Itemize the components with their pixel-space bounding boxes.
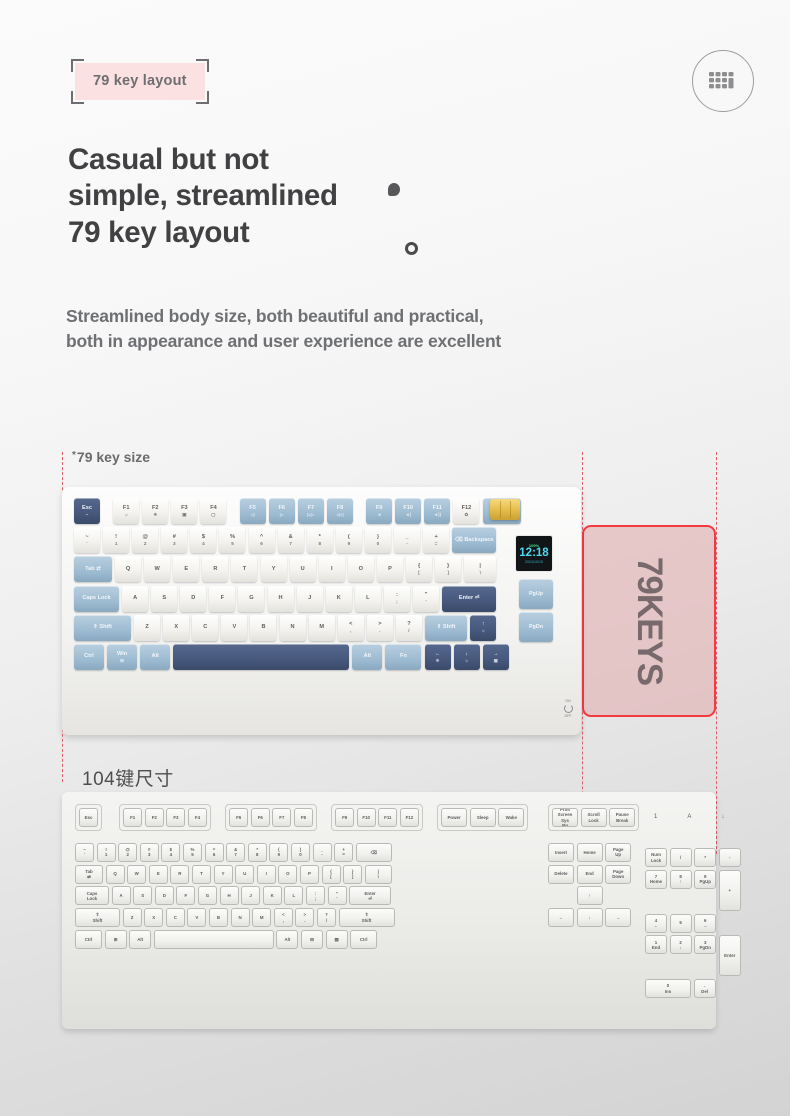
key-y[interactable]: Y [214, 865, 233, 884]
guide-line-right [716, 452, 717, 854]
key-3-pgdn[interactable]: 3PgDn [694, 935, 716, 954]
key-1-end[interactable]: 1End [645, 935, 667, 954]
key-shift[interactable]: ⇧Shift [75, 908, 120, 927]
key-j[interactable]: J [297, 586, 323, 612]
key-1[interactable]: !1 [97, 843, 116, 862]
key-delete[interactable]: Delete [548, 865, 574, 884]
key-f7[interactable]: F7▷▷ [298, 498, 324, 524]
key-legend: ↑ [679, 879, 681, 884]
key-n[interactable]: N [231, 908, 250, 927]
key-legend-bottom: ] [447, 570, 449, 576]
key-legend-bottom: . [379, 628, 380, 634]
key-legend-bottom: 6 [260, 541, 263, 547]
key-e[interactable]: E [173, 556, 199, 582]
key-u[interactable]: U [235, 865, 254, 884]
keyboard-row: Ctrl⊞AltAlt⊞▤Ctrl [75, 930, 528, 949]
key-legend-bottom: 3 [173, 541, 176, 547]
key-legend-top: Caps Lock [82, 595, 110, 602]
key-[interactable]: →▣ [483, 644, 509, 670]
key-f12[interactable]: F12✿ [453, 498, 479, 524]
key-f2[interactable]: F2 [145, 808, 164, 827]
badge-label: 79 key layout [93, 73, 187, 89]
key-a[interactable]: A [112, 886, 131, 905]
key-legend: F4 [195, 815, 200, 820]
key-legend: Delete [554, 871, 567, 876]
key-blank[interactable]: >. [295, 908, 314, 927]
key-f3[interactable]: F3▣ [171, 498, 197, 524]
key-legend: P [308, 871, 311, 876]
key-legend: Q [113, 871, 116, 876]
key-legend: F9 [342, 815, 347, 820]
key-pause-break[interactable]: PauseBreak [609, 808, 635, 827]
keyboard-icon [692, 50, 754, 112]
key-legend-bottom: ~ [86, 512, 89, 518]
key-w[interactable]: W [144, 556, 170, 582]
key-[interactable]: !1 [103, 527, 129, 553]
key-cluster: F1F2F3F4 [119, 804, 211, 831]
keyboard-104-function-row: EscF1F2F3F4F5F6F7F8F9F10F11F12PowerSleep… [75, 804, 528, 834]
key-f6[interactable]: F6▷ [269, 498, 295, 524]
key-legend-bottom: 7 [289, 541, 292, 547]
key-legend-top: F5 [249, 505, 256, 512]
key-page-up[interactable]: PageUp [605, 843, 631, 862]
key-blank[interactable]: + [719, 870, 741, 911]
key-f1[interactable]: F1 [123, 808, 142, 827]
key-[interactable]: _- [394, 527, 420, 553]
key-legend: → [703, 923, 707, 928]
power-switch[interactable]: ON OFF [561, 699, 575, 721]
key-legend: M [260, 915, 264, 920]
key-print-screen-sys-rq[interactable]: PrintScreenSysRq [552, 808, 578, 827]
key-[interactable]: )0 [365, 527, 391, 553]
key-4[interactable]: 4← [645, 914, 667, 933]
badge-79-key-layout: 79 key layout [75, 63, 205, 100]
key-blank[interactable]: → [605, 908, 631, 927]
key-7[interactable]: &7 [226, 843, 245, 862]
key-sleep[interactable]: Sleep [470, 808, 496, 827]
key-c[interactable]: C [166, 908, 185, 927]
key-[interactable]: *8 [307, 527, 333, 553]
key-legend-top: F1 [123, 505, 130, 512]
key-esc[interactable]: Esc~ [74, 498, 100, 524]
key-legend: Y [222, 871, 225, 876]
key-blank[interactable]: ↑ [577, 886, 603, 905]
key-2[interactable]: 2↓ [670, 935, 692, 954]
key-home[interactable]: Home [577, 843, 603, 862]
key-[interactable]: $4 [190, 527, 216, 553]
key-blank[interactable]: ?/ [317, 908, 336, 927]
key-shift[interactable]: ⇧ Shift [425, 615, 467, 641]
key-[interactable]: &7 [278, 527, 304, 553]
key-f3[interactable]: F3 [166, 808, 185, 827]
key-[interactable]: >. [367, 615, 393, 641]
key-legend: F6 [258, 815, 263, 820]
key-blank[interactable]: * [694, 848, 716, 867]
key-g[interactable]: G [198, 886, 217, 905]
key-gap [230, 498, 237, 524]
key-[interactable]: }] [435, 556, 461, 582]
key-enter[interactable]: Enter [719, 935, 741, 976]
key-legend-top: ^ [260, 534, 263, 541]
key-f[interactable]: F [209, 586, 235, 612]
key-legend: ← [654, 923, 658, 928]
key-legend-bottom: ☀ [153, 512, 157, 518]
key-[interactable]: @2 [132, 527, 158, 553]
key-0-ins[interactable]: 0Ins [645, 979, 691, 998]
key-page-down[interactable]: PageDown [605, 865, 631, 884]
key-y[interactable]: Y [261, 556, 287, 582]
key-o[interactable]: O [348, 556, 374, 582]
key-v[interactable]: V [221, 615, 247, 641]
key-legend: A [120, 893, 123, 898]
key-[interactable]: #3 [161, 527, 187, 553]
key-[interactable]: (9 [336, 527, 362, 553]
key-legend-top: C [203, 624, 207, 631]
key-m[interactable]: M [309, 615, 335, 641]
key-f6[interactable]: F6 [251, 808, 270, 827]
power-on-label: ON [561, 699, 575, 703]
key-legend: , [283, 918, 284, 923]
key-legend: Lock [87, 896, 97, 901]
key-legend-top: Y [272, 566, 276, 573]
key-[interactable]: {[ [406, 556, 432, 582]
key-legend-top: W [155, 566, 160, 573]
key-s[interactable]: S [151, 586, 177, 612]
key-blank[interactable]: ↓ [577, 908, 603, 927]
key-f9[interactable]: F9 [335, 808, 354, 827]
key-legend-bottom: 2 [144, 541, 147, 547]
key-b[interactable]: B [209, 908, 228, 927]
key-x[interactable]: X [163, 615, 189, 641]
key-legend-bottom: [ [418, 570, 420, 576]
key-legend: * [704, 855, 706, 860]
key-d[interactable]: D [155, 886, 174, 905]
key-blank[interactable]: <, [274, 908, 293, 927]
key-del[interactable]: .Del [694, 979, 716, 998]
key-legend-top: Esc [82, 505, 92, 512]
key-f11[interactable]: F11◄)) [424, 498, 450, 524]
key-legend: F12 [406, 815, 414, 820]
key-5[interactable]: %5 [183, 843, 202, 862]
key-o[interactable]: O [278, 865, 297, 884]
key-blank[interactable]: ~` [75, 843, 94, 862]
key-legend: End [652, 945, 660, 950]
key-legend: → [616, 915, 620, 920]
key-cluster: PowerSleepWake [437, 804, 528, 831]
key-scroll-lock[interactable]: ScrollLock [581, 808, 607, 827]
key-legend: F8 [301, 815, 306, 820]
key-space[interactable] [173, 644, 349, 670]
key-legend: F5 [236, 815, 241, 820]
key-p[interactable]: P [300, 865, 319, 884]
key-legend: Esc [85, 815, 93, 820]
key-z[interactable]: Z [134, 615, 160, 641]
indicator-led: A [687, 814, 691, 820]
key-legend-top: % [230, 534, 235, 541]
key-f1[interactable]: F1☼ [113, 498, 139, 524]
key-i[interactable]: I [257, 865, 276, 884]
key-f12[interactable]: F12 [400, 808, 419, 827]
key-blank[interactable]: ⊞ [301, 930, 323, 949]
key-ctrl[interactable]: Ctrl [74, 644, 104, 670]
key-0[interactable]: )0 [291, 843, 310, 862]
keyboard-row: ↑ [548, 886, 639, 905]
keyboard-104-nav-block: PrintScreenSysRqScrollLockPauseBreak Ins… [548, 804, 639, 930]
volume-knob[interactable] [490, 499, 520, 520]
key-legend: 5 [679, 920, 681, 925]
key-q[interactable]: Q [106, 865, 125, 884]
key-legend: Ctrl [360, 937, 368, 942]
key-legend: D [163, 893, 166, 898]
key-legend-top: E [184, 566, 188, 573]
key-win[interactable]: Win⊞ [107, 644, 137, 670]
key-i[interactable]: I [319, 556, 345, 582]
key-blank[interactable]: :; [306, 886, 325, 905]
key-h[interactable]: H [220, 886, 239, 905]
key-f8[interactable]: F8 [294, 808, 313, 827]
key-legend: Sleep [477, 815, 489, 820]
key-enter[interactable]: Enter ⏎ [442, 586, 496, 612]
key-f9[interactable]: F9◄ [366, 498, 392, 524]
key-legend: F7 [279, 815, 284, 820]
key-legend: C [174, 915, 177, 920]
key-blank[interactable]: ⊞ [105, 930, 127, 949]
key-legend-bottom: - [406, 541, 408, 547]
key-alt[interactable]: Alt [352, 644, 382, 670]
key-blank[interactable]: _- [313, 843, 332, 862]
key-[interactable]: %5 [219, 527, 245, 553]
key-legend: ↓ [679, 945, 681, 950]
key-t[interactable]: T [192, 865, 211, 884]
key-3[interactable]: #3 [140, 843, 159, 862]
key-[interactable]: ↑☼ [470, 615, 496, 641]
key-blank[interactable]: / [670, 848, 692, 867]
key-alt[interactable]: Alt [140, 644, 170, 670]
key-e[interactable]: E [149, 865, 168, 884]
key-legend: 7 [234, 852, 236, 857]
keyboard-row: ⇧ShiftZXCVBNM<,>.?/⇧Shift [75, 908, 528, 927]
key-legend-top: @ [142, 534, 147, 541]
key-[interactable]: ~` [74, 527, 100, 553]
key-f5[interactable]: F5◁ [240, 498, 266, 524]
key-[interactable]: ←☀ [425, 644, 451, 670]
key-legend-bottom: ✿ [464, 512, 468, 518]
key-f5[interactable]: F5 [229, 808, 248, 827]
key-[interactable]: ↓☼ [454, 644, 480, 670]
key-pgdn[interactable]: PgDn [519, 612, 553, 642]
key-blank[interactable]: }] [343, 865, 362, 884]
key-6[interactable]: 6→ [694, 914, 716, 933]
key-legend-top: J [308, 595, 311, 602]
key-legend-top: ) [377, 534, 379, 541]
key-legend: \ [378, 874, 379, 879]
key-u[interactable]: U [290, 556, 316, 582]
key-legend: S [141, 893, 144, 898]
key-l[interactable]: L [355, 586, 381, 612]
key-r[interactable]: R [170, 865, 189, 884]
key-l[interactable]: L [284, 886, 303, 905]
key-space[interactable] [154, 930, 274, 949]
key-h[interactable]: H [268, 586, 294, 612]
key-legend: End [585, 871, 593, 876]
key-legend-top: N [291, 624, 295, 631]
key-8[interactable]: *8 [248, 843, 267, 862]
key-[interactable]: :; [384, 586, 410, 612]
key-z[interactable]: Z [123, 908, 142, 927]
key-legend-bottom: ◄) [405, 512, 411, 518]
key-legend-top: G [249, 595, 253, 602]
key-blank[interactable]: ← [548, 908, 574, 927]
key-legend: PgDn [699, 945, 710, 950]
key-legend: Up [615, 852, 621, 857]
key-p[interactable]: P [377, 556, 403, 582]
key-5[interactable]: 5 [670, 914, 692, 933]
key-f7[interactable]: F7 [272, 808, 291, 827]
key-s[interactable]: S [133, 886, 152, 905]
key-cluster: Esc [75, 804, 102, 831]
key-legend: B [217, 915, 220, 920]
key-legend-top: Alt [151, 653, 158, 660]
key-legend: R [178, 871, 181, 876]
key-legend-bottom: ☀ [436, 658, 440, 664]
key-legend: Ins [665, 989, 671, 994]
key-legend: 3 [148, 852, 150, 857]
key-m[interactable]: M [252, 908, 271, 927]
key-f10[interactable]: F10 [357, 808, 376, 827]
keyboard-104-main-block: EscF1F2F3F4F5F6F7F8F9F10F11F12PowerSleep… [75, 804, 528, 952]
key-f2[interactable]: F2☀ [142, 498, 168, 524]
key-legend: [ [330, 874, 331, 879]
key-blank[interactable]: - [719, 848, 741, 867]
keyboard-row: CtrlWin⊞AltAltFn←☀↓☼→▣ [74, 644, 572, 670]
key-legend: Home [583, 850, 595, 855]
key-legend: H [227, 893, 230, 898]
key-f10[interactable]: F10◄) [395, 498, 421, 524]
key-legend-top: F11 [433, 505, 442, 512]
key-q[interactable]: Q [115, 556, 141, 582]
key-legend-top: → [493, 651, 499, 658]
label-79-key-size-text: 79 key size [77, 449, 150, 465]
key-a[interactable]: A [122, 586, 148, 612]
key-enter[interactable]: Enter⏎ [349, 886, 391, 905]
key-blank[interactable]: "' [328, 886, 347, 905]
key-legend-top: : [396, 592, 398, 599]
key-legend-top: O [359, 566, 363, 573]
key-legend-top: A [133, 595, 137, 602]
key-shift[interactable]: ⇧ Shift [74, 615, 131, 641]
key-9-pgup[interactable]: 9PgUp [694, 870, 716, 889]
key-esc[interactable]: Esc [79, 808, 98, 827]
keyboard-row: ~`!1@2#3$4%5^6&7*8(9)0_-+=⌫ Backspace [74, 527, 572, 553]
key-legend-top: _ [405, 534, 408, 541]
label-79-key-size: *79 key size [72, 449, 150, 465]
key-fn[interactable]: Fn [385, 644, 421, 670]
key-legend-bottom: ' [425, 599, 426, 605]
key-[interactable]: ^6 [249, 527, 275, 553]
key-legend: 4 [170, 852, 172, 857]
key-c[interactable]: C [192, 615, 218, 641]
key-k[interactable]: K [326, 586, 352, 612]
key-legend-top: F2 [152, 505, 159, 512]
key-pgup[interactable]: PgUp [519, 579, 553, 609]
key-legend-top: ↑ [482, 621, 485, 628]
key-f4[interactable]: F4 [188, 808, 207, 827]
keyboard-row: 4←56→ [645, 914, 741, 933]
indicator-led: 1 [654, 814, 657, 820]
key-shift[interactable]: ⇧Shift [339, 908, 395, 927]
key-j[interactable]: J [241, 886, 260, 905]
key-legend: = [342, 852, 345, 857]
key-x[interactable]: X [144, 908, 163, 927]
key-w[interactable]: W [127, 865, 146, 884]
key-t[interactable]: T [231, 556, 257, 582]
key-legend-top: B [261, 624, 265, 631]
key-alt[interactable]: Alt [129, 930, 151, 949]
key-legend: 5 [191, 852, 193, 857]
key-7-home[interactable]: 7Home [645, 870, 667, 889]
key-legend: ← [559, 915, 563, 920]
key-end[interactable]: End [577, 865, 603, 884]
keyboard-79-key-rows: Esc~F1☼F2☀F3▣F4▢F5◁F6▷F7▷▷F8◁◁F9◄F10◄)F1… [74, 498, 572, 670]
key-b[interactable]: B [250, 615, 276, 641]
key-legend-top: ← [435, 651, 441, 658]
key-caps-lock[interactable]: CapsLock [75, 886, 109, 905]
key-blank[interactable]: ⌫ [356, 843, 392, 862]
key-8[interactable]: 8↑ [670, 870, 692, 889]
key-num-lock[interactable]: NumLock [645, 848, 667, 867]
key-6[interactable]: ^6 [205, 843, 224, 862]
key-f4[interactable]: F4▢ [200, 498, 226, 524]
key-f[interactable]: F [176, 886, 195, 905]
key-n[interactable]: N [280, 615, 306, 641]
key-insert[interactable]: Insert [548, 843, 574, 862]
key-power[interactable]: Power [441, 808, 467, 827]
key-ctrl[interactable]: Ctrl [350, 930, 377, 949]
key-ctrl[interactable]: Ctrl [75, 930, 102, 949]
cluster-gap [320, 804, 329, 834]
key-tab[interactable]: Tab⇄ [75, 865, 103, 884]
key-2[interactable]: @2 [118, 843, 137, 862]
key-blank[interactable]: ▤ [326, 930, 348, 949]
key-f11[interactable]: F11 [378, 808, 397, 827]
key-[interactable]: ?/ [396, 615, 422, 641]
key-[interactable]: "' [413, 586, 439, 612]
key-caps-lock[interactable]: Caps Lock [74, 586, 119, 612]
key-k[interactable]: K [263, 886, 282, 905]
key-legend-top: Z [145, 624, 148, 631]
key-tab[interactable]: Tab ⇄ [74, 556, 112, 582]
key-d[interactable]: D [180, 586, 206, 612]
key-4[interactable]: $4 [161, 843, 180, 862]
key-[interactable]: |\ [464, 556, 496, 582]
key-backspace[interactable]: ⌫ Backspace [452, 527, 496, 553]
key-f8[interactable]: F8◁◁ [327, 498, 353, 524]
key-blank[interactable]: {[ [322, 865, 341, 884]
key-r[interactable]: R [202, 556, 228, 582]
key-9[interactable]: (9 [269, 843, 288, 862]
key-legend-bottom: ▷▷ [307, 512, 314, 518]
key-[interactable]: += [423, 527, 449, 553]
key-g[interactable]: G [238, 586, 264, 612]
key-[interactable]: <, [338, 615, 364, 641]
key-legend-bottom: ◄ [377, 512, 382, 518]
key-legend: G [206, 893, 209, 898]
key-blank[interactable]: += [334, 843, 353, 862]
key-blank[interactable]: |\ [365, 865, 392, 884]
key-v[interactable]: V [187, 908, 206, 927]
key-wake[interactable]: Wake [498, 808, 524, 827]
key-alt[interactable]: Alt [276, 930, 298, 949]
